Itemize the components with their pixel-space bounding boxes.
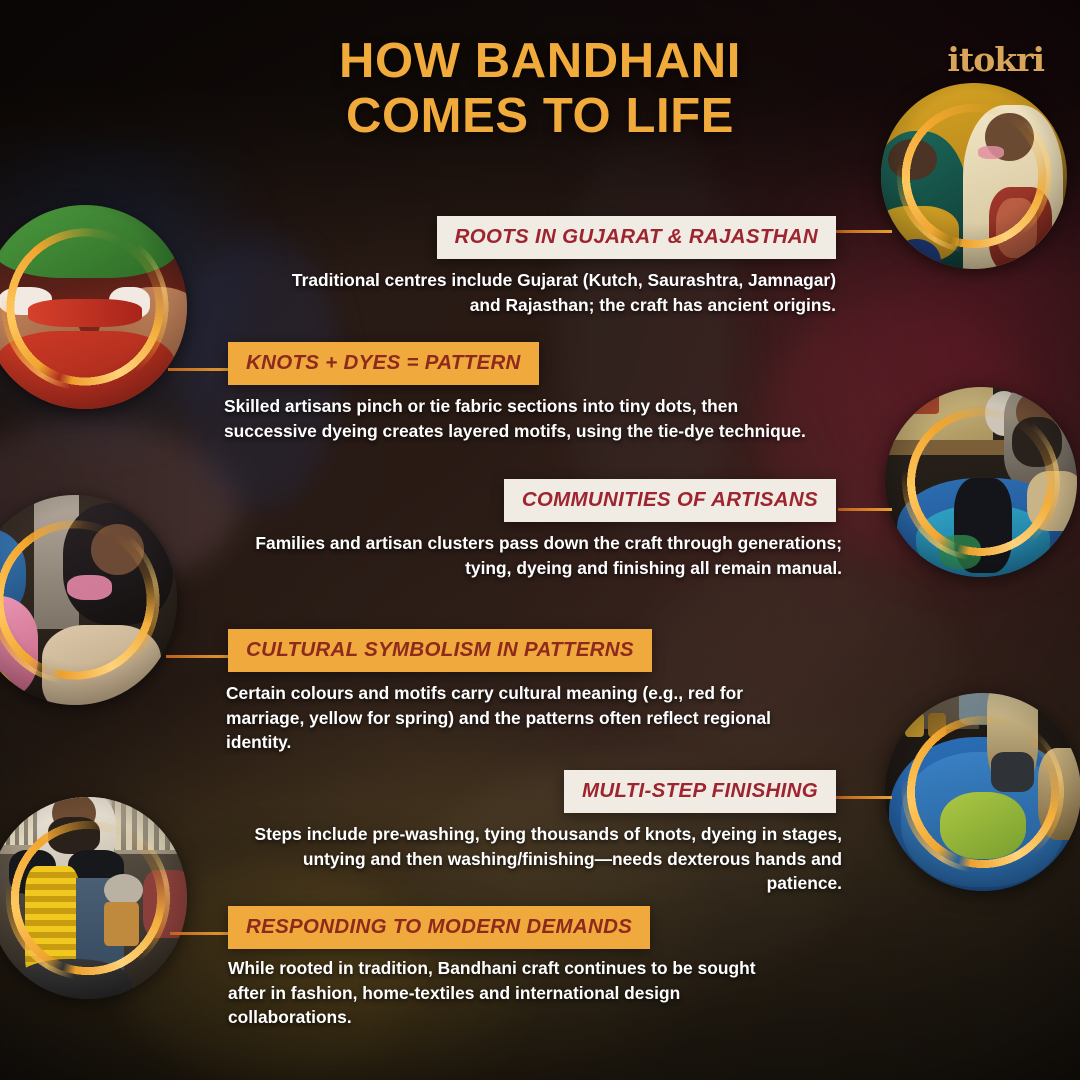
photo-dyer-yellow-fabric <box>0 788 196 1008</box>
page-title-line1: HOW BANDHANI <box>339 34 741 88</box>
connector-line-section-4 <box>166 655 230 658</box>
photo-indigo-dye-vat <box>876 684 1080 900</box>
connector-line-section-1 <box>836 230 892 233</box>
section-label-communities-of-artisans[interactable]: COMMUNITIES OF ARTISANS <box>504 479 836 522</box>
photo-ring-brushstroke <box>869 371 1080 593</box>
section-body-cultural-symbolism-in-patterns: Certain colours and motifs carry cultura… <box>226 681 796 755</box>
section-body-knots-dyes-pattern: Skilled artisans pinch or tie fabric sec… <box>224 394 824 443</box>
connector-line-section-6 <box>170 932 230 935</box>
photo-dyer-blue-tub <box>876 378 1080 586</box>
section-label-knots-dyes-pattern[interactable]: KNOTS + DYES = PATTERN <box>228 342 539 385</box>
photo-women-tying-fabric <box>872 74 1076 278</box>
photo-ring-brushstroke <box>865 67 1080 285</box>
connector-line-section-3 <box>838 508 892 511</box>
section-label-multi-step-finishing[interactable]: MULTI-STEP FINISHING <box>564 770 836 813</box>
section-label-roots-in-gujarat-rajasthan[interactable]: ROOTS IN GUJARAT & RAJASTHAN <box>437 216 836 259</box>
connector-line-section-2 <box>168 368 230 371</box>
photo-ring-brushstroke <box>869 677 1080 907</box>
section-body-roots-in-gujarat-rajasthan: Traditional centres include Gujarat (Kut… <box>272 268 836 317</box>
section-body-multi-step-finishing: Steps include pre-washing, tying thousan… <box>242 822 842 896</box>
infographic-canvas: HOW BANDHANI COMES TO LIFE itokri <box>0 0 1080 1080</box>
section-label-responding-to-modern-demands[interactable]: RESPONDING TO MODERN DEMANDS <box>228 906 650 949</box>
section-label-cultural-symbolism-in-patterns[interactable]: CULTURAL SYMBOLISM IN PATTERNS <box>228 629 652 672</box>
photo-hands-tying-red-fabric <box>0 196 196 418</box>
section-body-responding-to-modern-demands: While rooted in tradition, Bandhani craf… <box>228 956 788 1030</box>
connector-line-section-5 <box>836 796 892 799</box>
section-body-communities-of-artisans: Families and artisan clusters pass down … <box>232 531 842 580</box>
photo-women-with-tied-cloth <box>0 486 186 714</box>
